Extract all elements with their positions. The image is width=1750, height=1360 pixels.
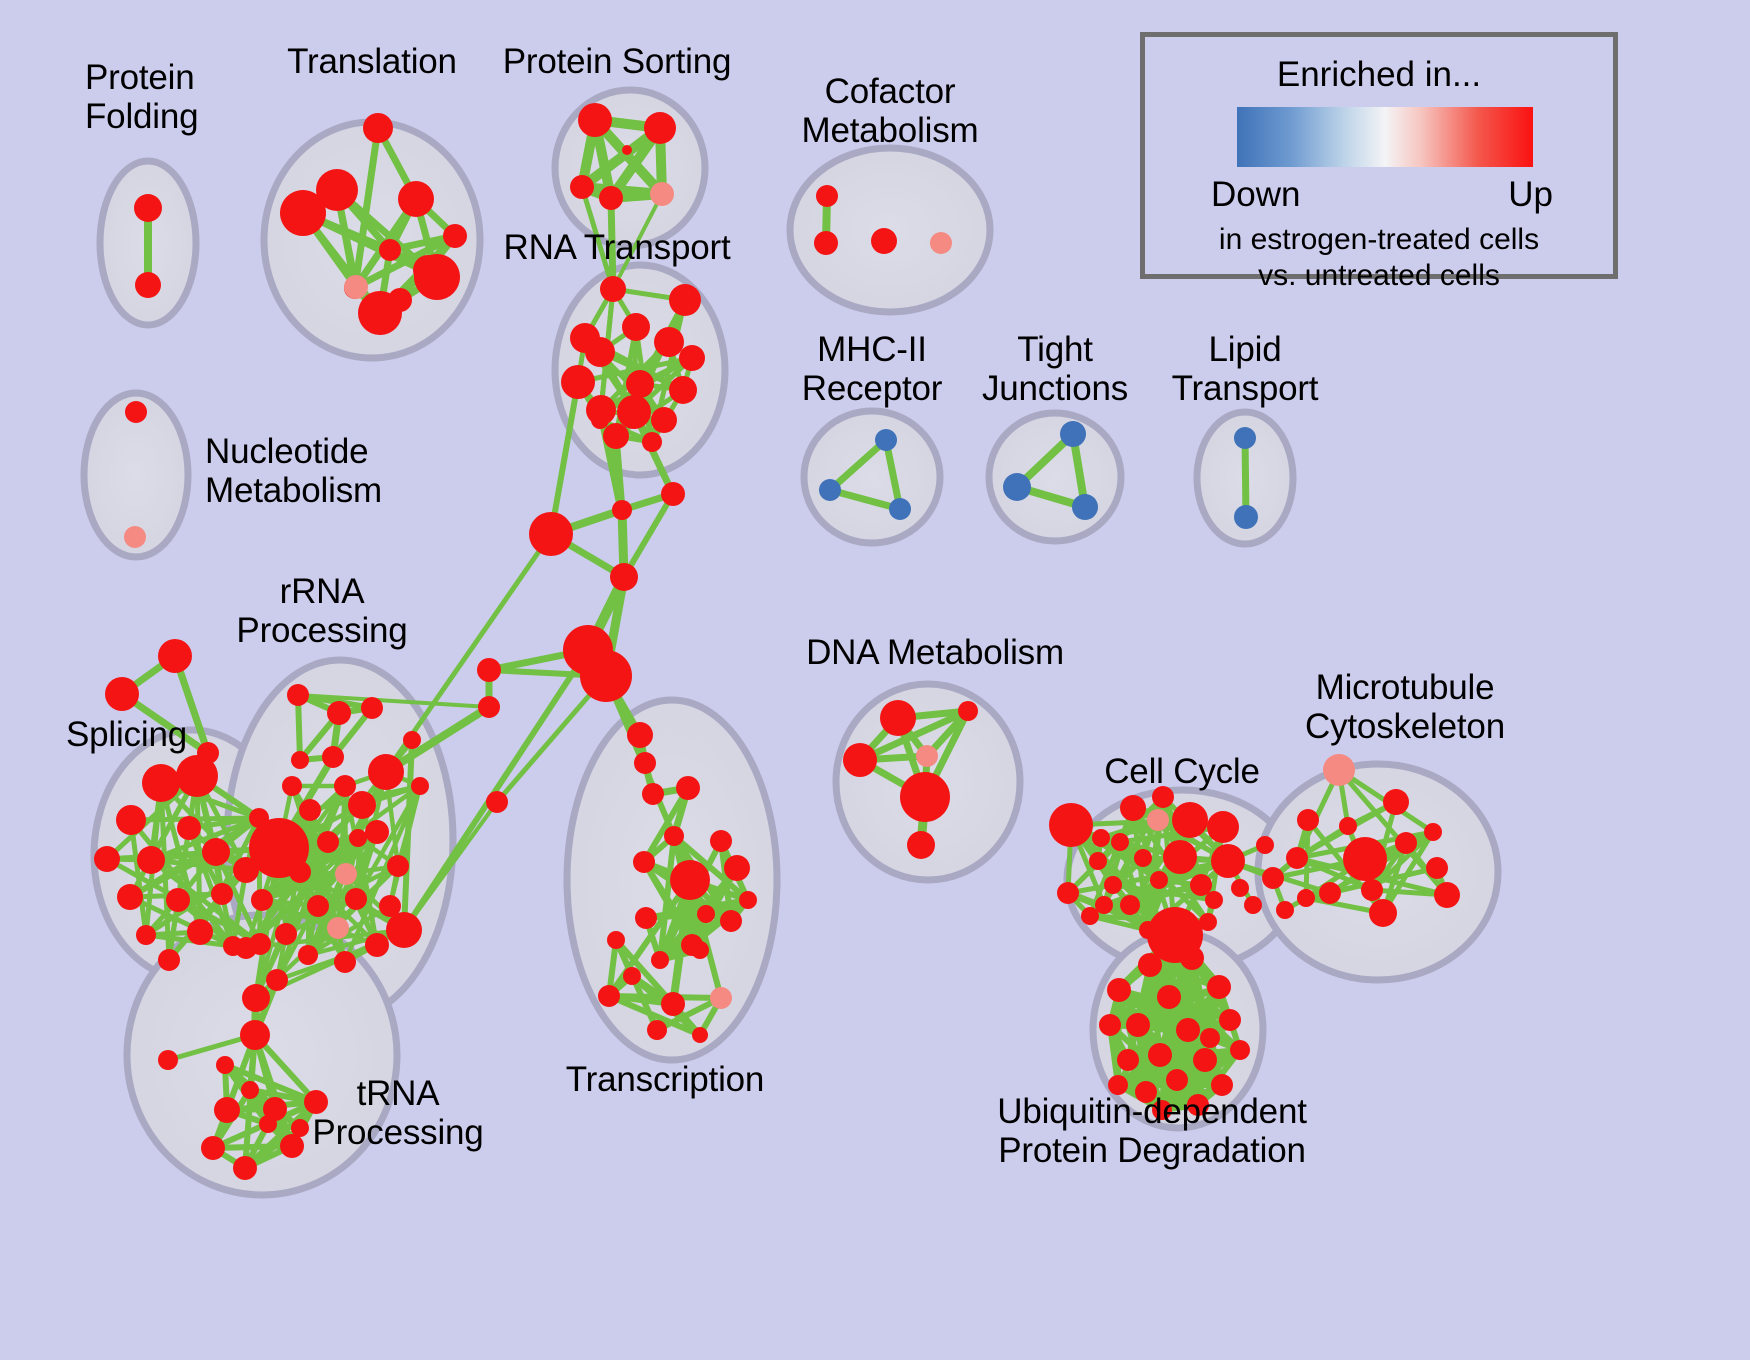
network-node[interactable] xyxy=(135,272,161,298)
cluster-label-protein-folding: Protein Folding xyxy=(85,58,198,136)
network-node[interactable] xyxy=(124,526,146,548)
network-node[interactable] xyxy=(610,563,638,591)
network-node[interactable] xyxy=(1003,473,1031,501)
network-node[interactable] xyxy=(233,1156,257,1180)
network-node[interactable] xyxy=(166,888,190,912)
network-node[interactable] xyxy=(669,284,701,316)
network-node[interactable] xyxy=(136,925,156,945)
cluster-label-cofactor-metabolism: Cofactor Metabolism xyxy=(802,72,979,150)
network-node[interactable] xyxy=(958,701,978,721)
network-node[interactable] xyxy=(317,831,339,853)
network-node[interactable] xyxy=(647,1020,667,1040)
network-node[interactable] xyxy=(654,327,684,357)
network-node[interactable] xyxy=(1150,871,1168,889)
network-node[interactable] xyxy=(1139,921,1157,939)
network-node[interactable] xyxy=(158,1050,178,1070)
network-node[interactable] xyxy=(1297,889,1315,907)
network-node[interactable] xyxy=(365,933,389,957)
network-node[interactable] xyxy=(816,185,838,207)
cluster-label-ubiquitin-protein-degradation: Ubiquitin-dependent Protein Degradation xyxy=(997,1092,1307,1170)
cluster-label-trna-processing: tRNA Processing xyxy=(312,1074,483,1152)
network-node[interactable] xyxy=(598,985,620,1007)
network-node[interactable] xyxy=(676,776,700,800)
legend-color-bar xyxy=(1237,107,1533,167)
network-node[interactable] xyxy=(1231,879,1249,897)
network-node[interactable] xyxy=(379,239,401,261)
network-node[interactable] xyxy=(1081,907,1099,925)
cluster-label-rna-transport: RNA Transport xyxy=(504,228,731,267)
network-node[interactable] xyxy=(1297,809,1319,831)
network-node[interactable] xyxy=(291,751,309,769)
cluster-label-tight-junctions: Tight Junctions xyxy=(982,330,1128,408)
legend-box: Enriched in... Down Up in estrogen-treat… xyxy=(1140,32,1618,279)
network-node[interactable] xyxy=(387,855,409,877)
network-node[interactable] xyxy=(282,776,302,796)
cluster-label-translation: Translation xyxy=(287,42,457,81)
network-node[interactable] xyxy=(1230,1040,1250,1060)
network-node[interactable] xyxy=(622,313,650,341)
network-node[interactable] xyxy=(1361,879,1383,901)
network-node[interactable] xyxy=(398,181,434,217)
network-node[interactable] xyxy=(125,401,147,423)
network-node[interactable] xyxy=(363,113,393,143)
network-node[interactable] xyxy=(1166,1069,1188,1091)
network-node[interactable] xyxy=(1286,847,1308,869)
network-node[interactable] xyxy=(1434,882,1460,908)
network-node[interactable] xyxy=(1211,844,1245,878)
network-node[interactable] xyxy=(1049,803,1093,847)
network-node[interactable] xyxy=(591,411,609,429)
network-node[interactable] xyxy=(1117,1049,1139,1071)
network-node[interactable] xyxy=(529,512,573,556)
network-node[interactable] xyxy=(1207,811,1239,843)
network-node[interactable] xyxy=(1120,895,1140,915)
network-node[interactable] xyxy=(411,777,429,795)
network-node[interactable] xyxy=(142,764,180,802)
network-node[interactable] xyxy=(661,482,685,506)
network-node[interactable] xyxy=(1089,852,1107,870)
network-node[interactable] xyxy=(635,907,657,929)
network-node[interactable] xyxy=(692,1027,708,1043)
network-node[interactable] xyxy=(1172,802,1208,838)
cluster-label-splicing: Splicing xyxy=(66,715,187,754)
network-node[interactable] xyxy=(900,772,950,822)
network-node[interactable] xyxy=(1234,505,1258,529)
network-node[interactable] xyxy=(633,851,655,873)
network-node[interactable] xyxy=(344,275,368,299)
network-node[interactable] xyxy=(670,860,710,900)
network-node[interactable] xyxy=(617,395,651,429)
legend-caption-line2: vs. untreated cells xyxy=(1145,259,1613,293)
cluster-label-nucleotide-metabolism: Nucleotide Metabolism xyxy=(205,432,382,510)
network-node[interactable] xyxy=(642,783,664,805)
network-node[interactable] xyxy=(1244,896,1262,914)
network-node[interactable] xyxy=(669,376,697,404)
network-node[interactable] xyxy=(299,799,321,821)
network-node[interactable] xyxy=(1199,913,1217,931)
network-node[interactable] xyxy=(916,745,938,767)
cluster-label-lipid-transport: Lipid Transport xyxy=(1172,330,1319,408)
network-node[interactable] xyxy=(117,884,143,910)
network-node[interactable] xyxy=(176,755,218,797)
network-node[interactable] xyxy=(651,407,677,433)
network-node[interactable] xyxy=(880,700,916,736)
cluster-label-microtubule-cytoskeleton: Microtubule Cytoskeleton xyxy=(1305,668,1505,746)
network-node[interactable] xyxy=(358,291,402,335)
network-node[interactable] xyxy=(105,677,139,711)
enrichment-map-figure: Protein Folding Translation Protein Sort… xyxy=(0,0,1750,1360)
network-node[interactable] xyxy=(280,190,326,236)
network-node[interactable] xyxy=(739,891,757,909)
network-node[interactable] xyxy=(634,752,656,774)
network-node[interactable] xyxy=(578,103,612,137)
network-node[interactable] xyxy=(710,830,732,852)
network-node[interactable] xyxy=(414,254,460,300)
network-node[interactable] xyxy=(158,639,192,673)
network-node[interactable] xyxy=(1200,1028,1220,1048)
network-node[interactable] xyxy=(930,232,952,254)
network-node[interactable] xyxy=(298,945,318,965)
cluster-label-dna-metabolism: DNA Metabolism xyxy=(806,633,1064,672)
network-node[interactable] xyxy=(585,337,615,367)
legend-title: Enriched in... xyxy=(1145,55,1613,95)
network-node[interactable] xyxy=(1176,1018,1200,1042)
network-node[interactable] xyxy=(201,1136,225,1160)
network-node[interactable] xyxy=(1147,809,1169,831)
network-node[interactable] xyxy=(327,701,351,725)
network-node[interactable] xyxy=(1426,857,1448,879)
network-node[interactable] xyxy=(819,479,841,501)
network-node[interactable] xyxy=(889,498,911,520)
network-node[interactable] xyxy=(443,224,467,248)
cluster-label-rrna-processing: rRNA Processing xyxy=(236,572,407,650)
network-node[interactable] xyxy=(291,1119,309,1137)
network-node[interactable] xyxy=(1126,1013,1150,1037)
network-node[interactable] xyxy=(1104,876,1122,894)
network-node[interactable] xyxy=(650,182,674,206)
network-node[interactable] xyxy=(1060,421,1086,447)
network-node[interactable] xyxy=(1276,901,1294,919)
network-node[interactable] xyxy=(724,855,750,881)
network-node[interactable] xyxy=(335,863,357,885)
network-node[interactable] xyxy=(477,658,501,682)
network-node[interactable] xyxy=(345,888,367,910)
network-node[interactable] xyxy=(600,276,626,302)
network-node[interactable] xyxy=(1072,494,1098,520)
network-node[interactable] xyxy=(486,791,508,813)
cluster-label-transcription: Transcription xyxy=(566,1060,764,1099)
network-node[interactable] xyxy=(251,889,273,911)
network-node[interactable] xyxy=(1319,882,1341,904)
network-node[interactable] xyxy=(187,919,213,945)
network-node[interactable] xyxy=(1190,874,1212,896)
network-node[interactable] xyxy=(623,967,641,985)
network-node[interactable] xyxy=(368,754,404,790)
network-node[interactable] xyxy=(287,684,309,706)
network-node[interactable] xyxy=(202,838,230,866)
network-node[interactable] xyxy=(240,1020,270,1050)
network-node[interactable] xyxy=(1369,899,1397,927)
network-node[interactable] xyxy=(1163,840,1197,874)
cluster-ellipse-mhc-ii-receptor xyxy=(804,411,940,543)
network-node[interactable] xyxy=(622,145,632,155)
network-node[interactable] xyxy=(280,1134,304,1158)
network-node[interactable] xyxy=(322,746,344,768)
network-node[interactable] xyxy=(570,175,594,199)
legend-low-label: Down xyxy=(1211,175,1300,215)
network-node[interactable] xyxy=(1180,946,1204,970)
network-node[interactable] xyxy=(1205,891,1223,909)
network-node[interactable] xyxy=(1120,795,1146,821)
network-node[interactable] xyxy=(235,937,257,959)
network-node[interactable] xyxy=(289,861,311,883)
network-node[interactable] xyxy=(1207,975,1231,999)
network-node[interactable] xyxy=(875,429,897,451)
network-node[interactable] xyxy=(710,987,732,1009)
network-node[interactable] xyxy=(644,112,676,144)
network-node[interactable] xyxy=(1339,817,1357,835)
network-node[interactable] xyxy=(134,194,162,222)
network-node[interactable] xyxy=(307,895,329,917)
network-node[interactable] xyxy=(275,923,297,945)
network-node[interactable] xyxy=(177,816,201,840)
network-node[interactable] xyxy=(679,345,705,371)
network-node[interactable] xyxy=(627,722,653,748)
network-node[interactable] xyxy=(1157,985,1181,1009)
network-node[interactable] xyxy=(1148,1043,1172,1067)
network-node[interactable] xyxy=(626,370,654,398)
network-node[interactable] xyxy=(814,231,838,255)
network-node[interactable] xyxy=(94,846,120,872)
network-node[interactable] xyxy=(1234,427,1256,449)
network-node[interactable] xyxy=(1343,837,1387,881)
network-node[interactable] xyxy=(907,831,935,859)
network-node[interactable] xyxy=(361,697,383,719)
network-node[interactable] xyxy=(1323,754,1355,786)
network-node[interactable] xyxy=(349,829,367,847)
cluster-label-mhc-ii-receptor: MHC-II Receptor xyxy=(802,330,942,408)
network-node[interactable] xyxy=(1107,978,1131,1002)
network-node[interactable] xyxy=(216,1056,234,1074)
network-node[interactable] xyxy=(1193,1048,1217,1072)
network-node[interactable] xyxy=(1395,832,1417,854)
network-node[interactable] xyxy=(1057,882,1079,904)
network-node[interactable] xyxy=(1383,789,1409,815)
network-node[interactable] xyxy=(697,905,715,923)
network-node[interactable] xyxy=(158,949,180,971)
network-node[interactable] xyxy=(1111,833,1129,851)
network-node[interactable] xyxy=(241,1081,259,1099)
network-node[interactable] xyxy=(1219,1009,1241,1031)
network-node[interactable] xyxy=(1092,829,1110,847)
network-node[interactable] xyxy=(403,731,421,749)
network-node[interactable] xyxy=(365,820,389,844)
network-node[interactable] xyxy=(334,951,356,973)
network-node[interactable] xyxy=(478,696,500,718)
network-node[interactable] xyxy=(651,951,669,969)
network-node[interactable] xyxy=(871,228,897,254)
network-node[interactable] xyxy=(691,941,709,959)
network-node[interactable] xyxy=(720,910,742,932)
network-node[interactable] xyxy=(561,365,595,399)
network-node[interactable] xyxy=(386,912,422,948)
network-node[interactable] xyxy=(1256,836,1274,854)
network-node[interactable] xyxy=(259,1115,277,1133)
network-node[interactable] xyxy=(137,846,165,874)
legend-caption-line1: in estrogen-treated cells xyxy=(1145,223,1613,257)
network-node[interactable] xyxy=(327,917,349,939)
network-node[interactable] xyxy=(242,984,270,1012)
network-node[interactable] xyxy=(1099,1014,1121,1036)
network-node[interactable] xyxy=(214,1097,240,1123)
network-node[interactable] xyxy=(607,931,625,949)
network-node[interactable] xyxy=(843,743,877,777)
network-node[interactable] xyxy=(211,883,233,905)
network-node[interactable] xyxy=(1424,823,1442,841)
network-node[interactable] xyxy=(661,992,685,1016)
cluster-label-cell-cycle: Cell Cycle xyxy=(1104,752,1260,791)
network-node[interactable] xyxy=(348,791,376,819)
legend-high-label: Up xyxy=(1508,175,1553,215)
network-node[interactable] xyxy=(266,969,288,991)
network-node[interactable] xyxy=(642,432,662,452)
network-node[interactable] xyxy=(1262,867,1284,889)
network-node[interactable] xyxy=(1095,896,1113,914)
network-node[interactable] xyxy=(664,826,684,846)
network-node[interactable] xyxy=(1134,849,1152,867)
network-node[interactable] xyxy=(612,500,632,520)
network-node[interactable] xyxy=(603,423,629,449)
cluster-label-protein-sorting: Protein Sorting xyxy=(503,42,732,81)
network-node[interactable] xyxy=(580,650,632,702)
network-node[interactable] xyxy=(1138,953,1162,977)
network-node[interactable] xyxy=(599,186,623,210)
network-node[interactable] xyxy=(116,805,146,835)
network-node[interactable] xyxy=(334,775,356,797)
